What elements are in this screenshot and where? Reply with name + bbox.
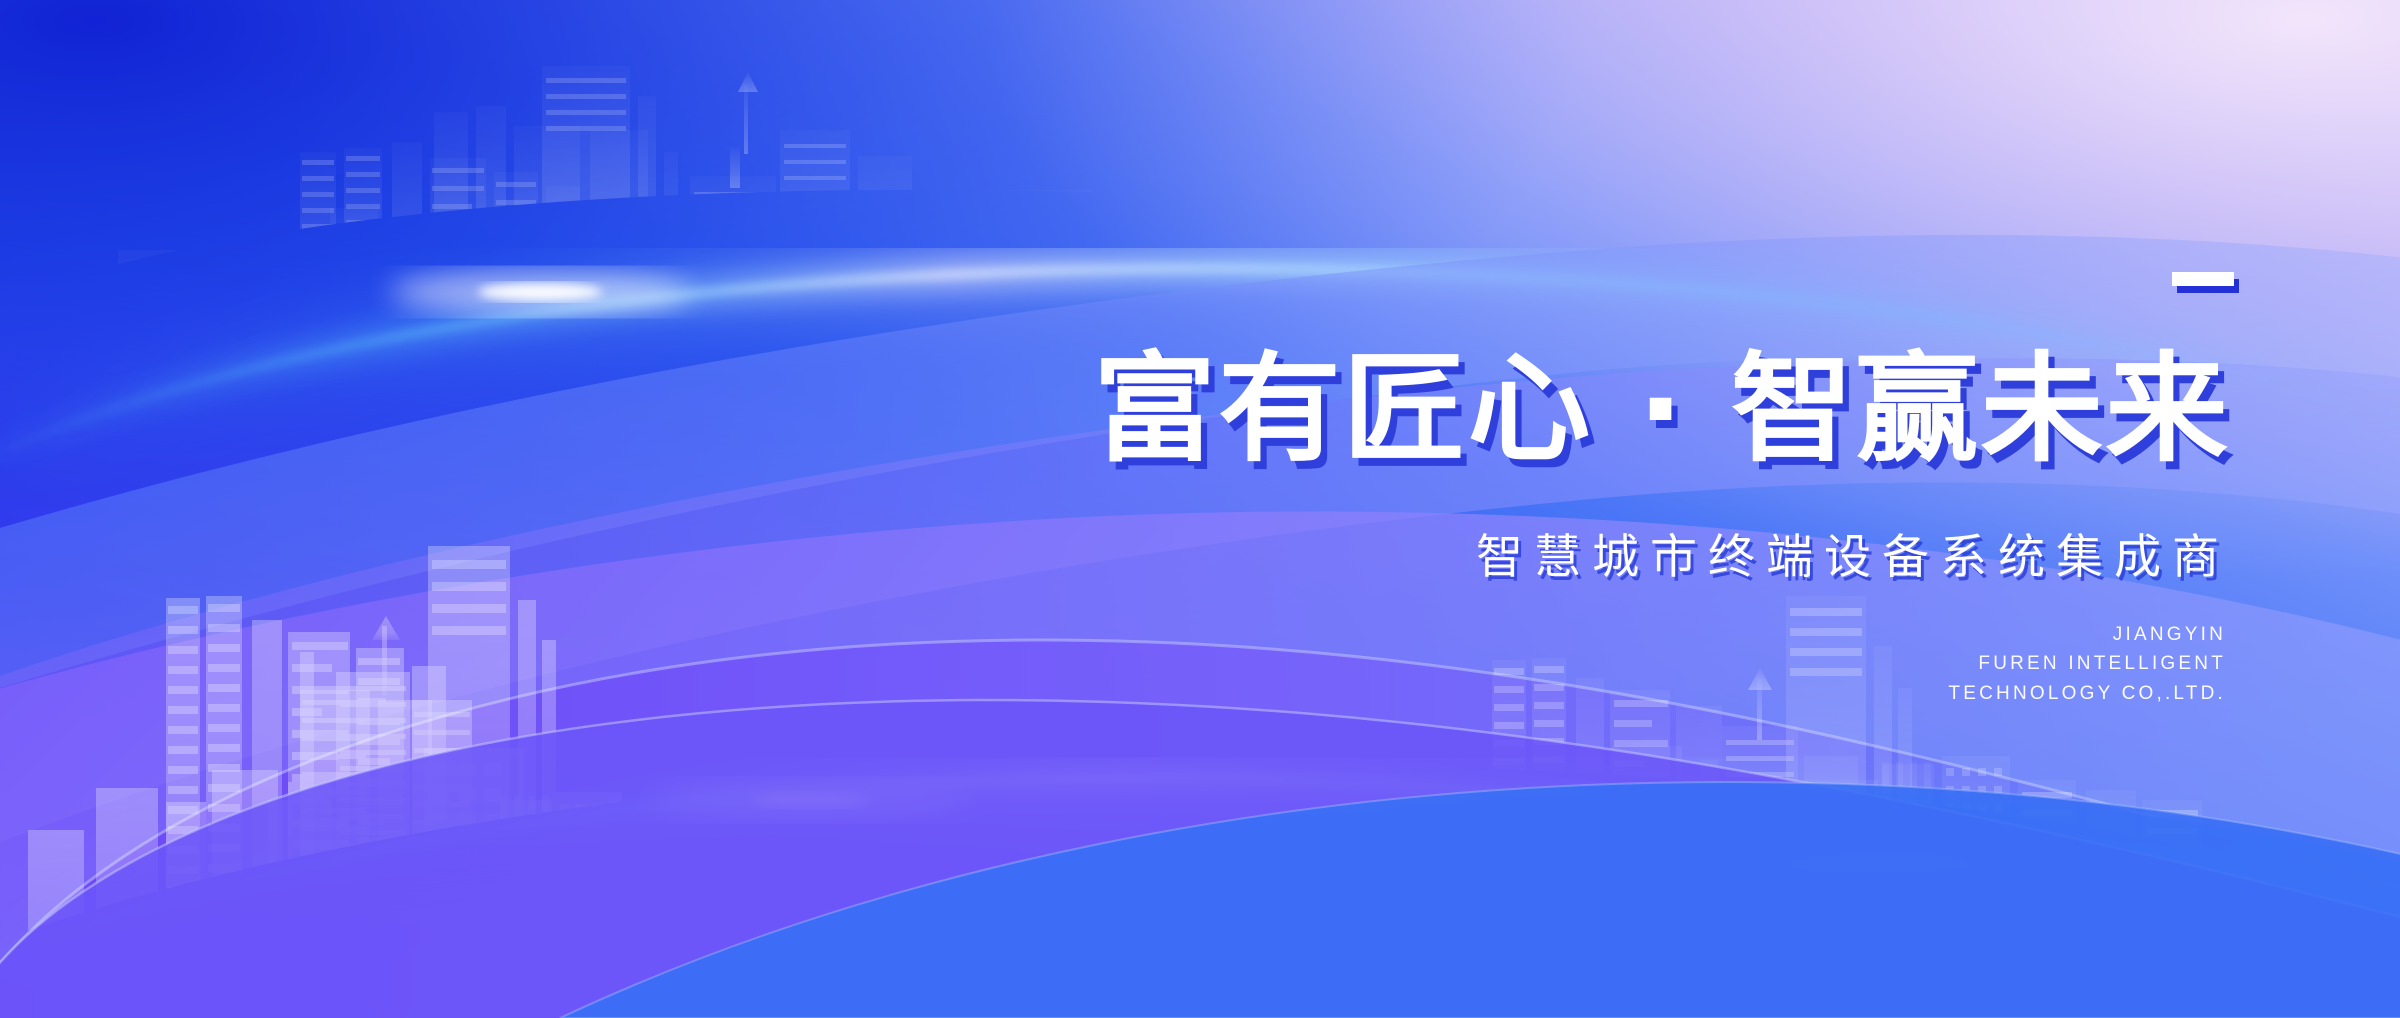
company-name-block: JIANGYIN FUREN INTELLIGENT TECHNOLOGY CO… <box>1948 620 2226 708</box>
headline-text-group: 富有匠心 · 智赢未来 智慧城市终端设备系统集成商 JIANGYIN FUREN… <box>1040 230 2240 750</box>
promotional-banner: 富有匠心 · 智赢未来 智慧城市终端设备系统集成商 JIANGYIN FUREN… <box>0 0 2400 1018</box>
company-line-name: FUREN INTELLIGENT <box>1948 649 2226 678</box>
dash-accent-mark <box>2172 272 2234 286</box>
company-line-suffix: TECHNOLOGY CO,.LTD. <box>1948 679 2226 708</box>
page-subtitle: 智慧城市终端设备系统集成商 <box>1050 518 2230 587</box>
page-title: 富有匠心 · 智赢未来 <box>1003 350 2230 468</box>
company-line-city: JIANGYIN <box>1948 620 2226 649</box>
